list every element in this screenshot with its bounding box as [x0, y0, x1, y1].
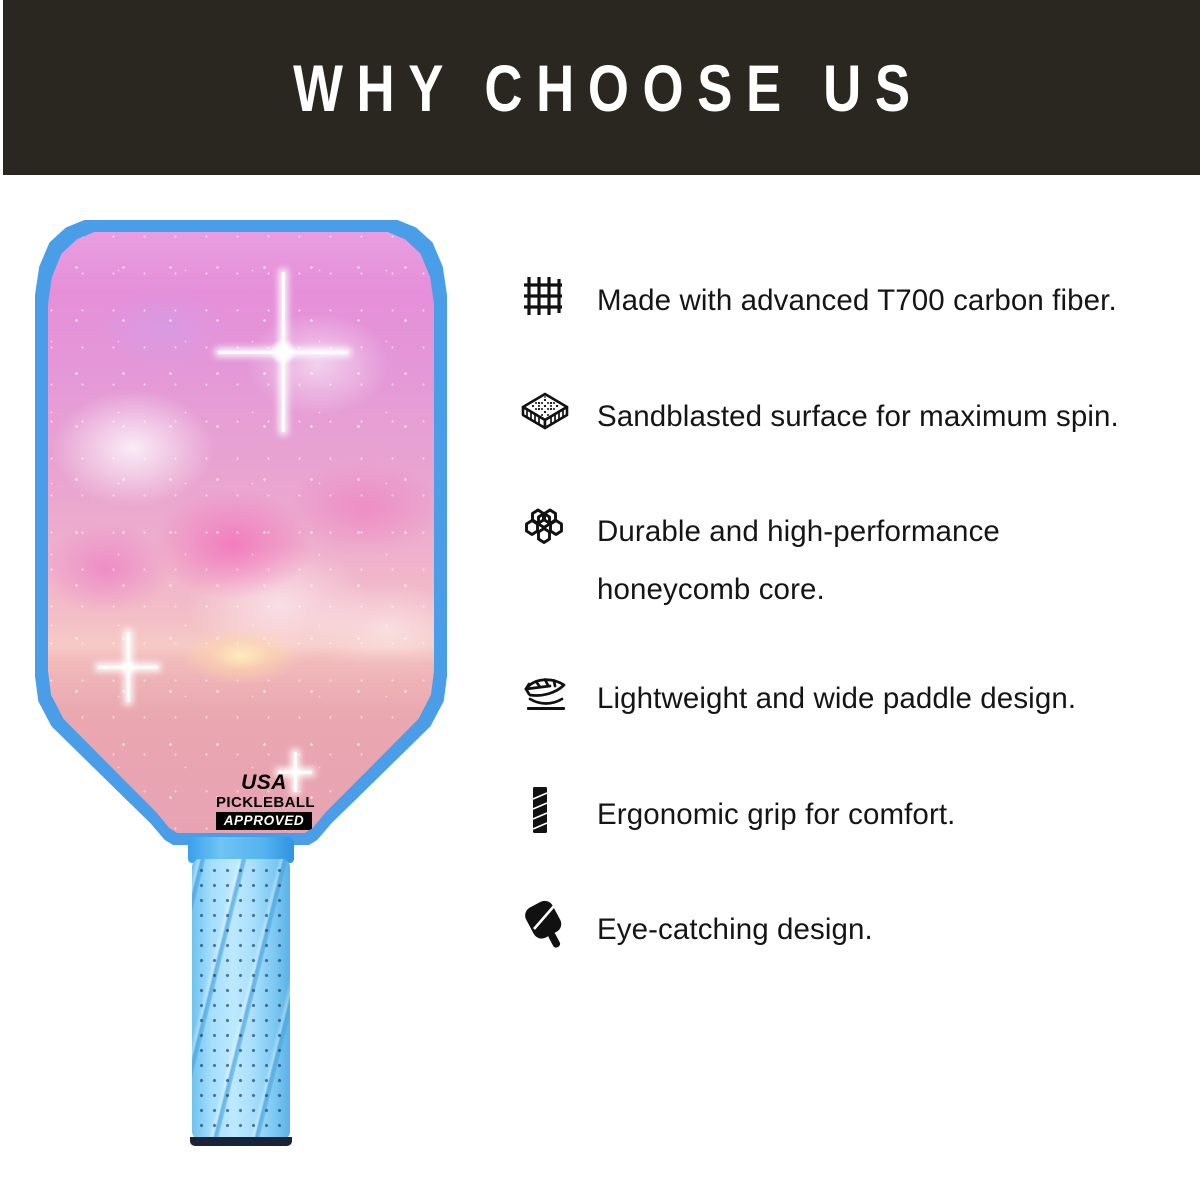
badge-line-pickleball: PICKLEBALL — [216, 795, 312, 810]
feature-item-ergonomic-grip: Ergonomic grip for comfort. — [520, 784, 1180, 844]
badge-line-usa: USA — [216, 772, 312, 793]
paddle-silhouette-icon — [520, 899, 578, 951]
feature-label: Lightweight and wide paddle design. — [578, 668, 1076, 728]
feature-label: Ergonomic grip for comfort. — [578, 784, 955, 844]
product-image-paddle: USA PICKLEBALL APPROVED — [30, 215, 450, 1165]
paddle-face-artwork: USA PICKLEBALL APPROVED — [48, 232, 434, 833]
content-area: USA PICKLEBALL APPROVED — [0, 175, 1200, 1200]
sandblasted-surface-icon — [520, 386, 578, 438]
feature-item-sandblasted-surface: Sandblasted surface for maximum spin. — [520, 386, 1180, 446]
feature-item-carbon-fiber: Made with advanced T700 carbon fiber. — [520, 270, 1180, 330]
grip-perforation-texture — [192, 859, 290, 1141]
honeycomb-core-icon — [520, 501, 578, 553]
feature-item-eye-catching-design: Eye-catching design. — [520, 899, 1180, 959]
page-title: WHY CHOOSE US — [279, 55, 923, 121]
feature-label: Sandblasted surface for maximum spin. — [578, 386, 1119, 446]
feature-label-line-2: honeycomb core. — [597, 561, 1000, 619]
feather-lightweight-icon — [520, 668, 578, 720]
header-banner: WHY CHOOSE US — [3, 0, 1200, 175]
paddle-butt-cap — [190, 1137, 292, 1146]
feature-item-honeycomb-core: Durable and high-performance honeycomb c… — [520, 501, 1180, 618]
feature-label: Eye-catching design. — [578, 899, 873, 959]
feature-list: Made with advanced T700 carbon fiber. — [520, 270, 1180, 1015]
feature-label-line-1: Durable and high-performance — [597, 503, 1000, 561]
feature-label: Made with advanced T700 carbon fiber. — [578, 270, 1117, 330]
carbon-fiber-grid-icon — [520, 270, 578, 322]
paddle-grip — [192, 859, 290, 1141]
star-field-texture — [48, 232, 434, 833]
grip-handle-icon — [520, 784, 578, 836]
feature-label: Durable and high-performance honeycomb c… — [578, 501, 1000, 618]
usa-pickleball-approved-badge: USA PICKLEBALL APPROVED — [216, 772, 312, 830]
badge-line-approved: APPROVED — [216, 812, 312, 830]
feature-item-lightweight: Lightweight and wide paddle design. — [520, 668, 1180, 728]
